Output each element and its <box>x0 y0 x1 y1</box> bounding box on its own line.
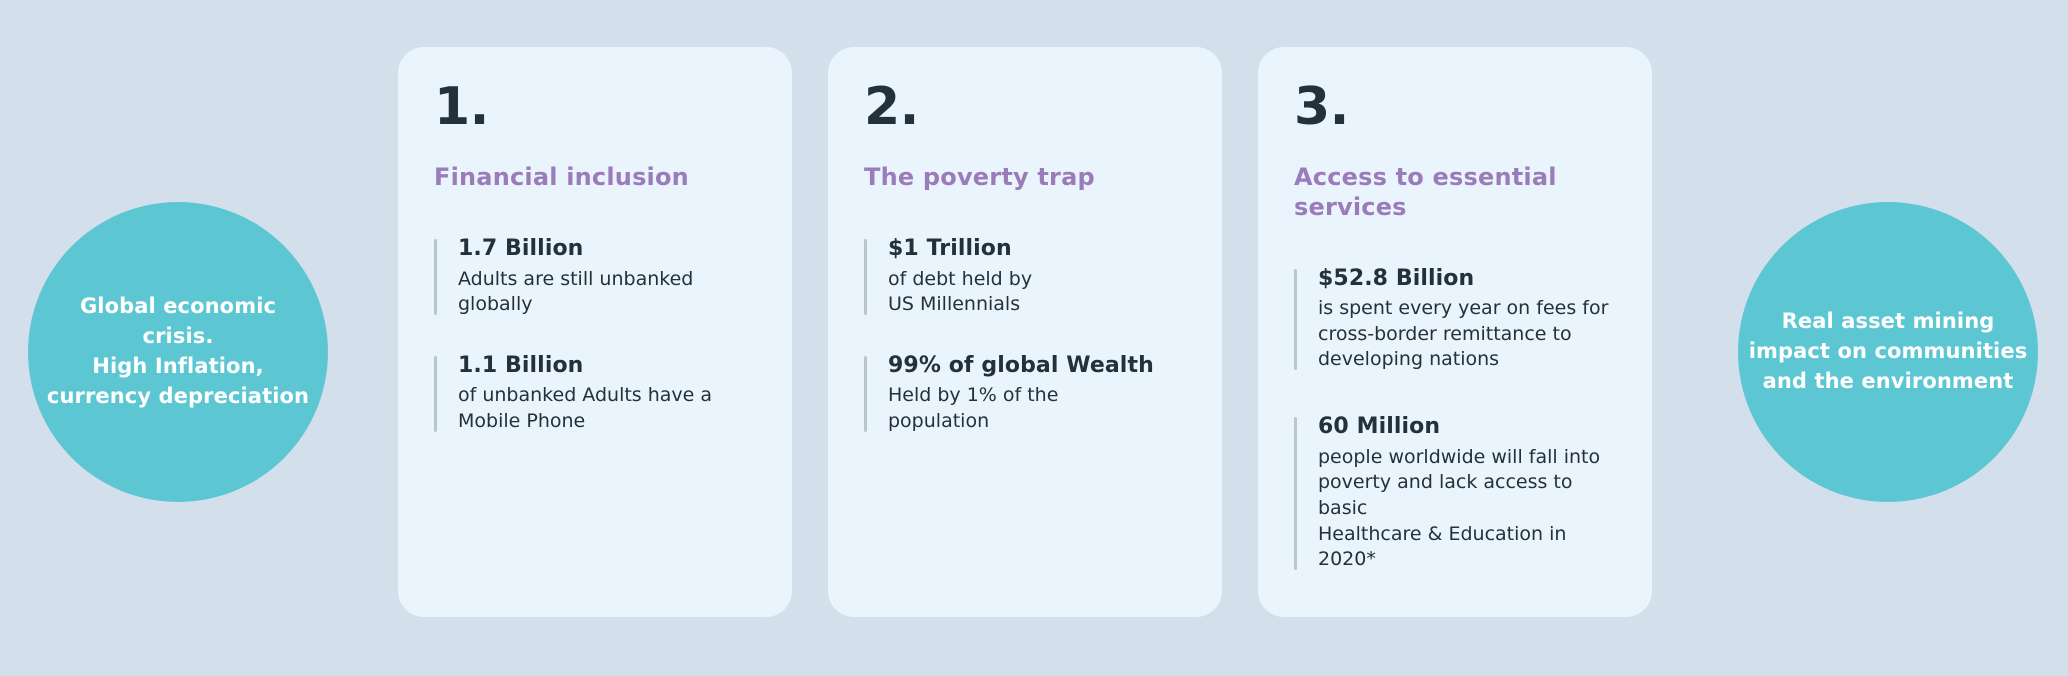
card-poverty-trap: 2. The poverty trap $1 Trillion of debt … <box>828 47 1222 617</box>
stats-list: 1.7 Billion Adults are still unbanked gl… <box>434 235 756 435</box>
card-number: 3. <box>1294 81 1616 133</box>
stat-item: 1.1 Billion of unbanked Adults have a Mo… <box>434 352 756 435</box>
stats-list: $52.8 Billion is spent every year on fee… <box>1294 265 1616 573</box>
stat-description: of unbanked Adults have a Mobile Phone <box>458 383 756 434</box>
stat-item: 60 Million people worldwide will fall in… <box>1294 413 1616 573</box>
stats-list: $1 Trillion of debt held by US Millennia… <box>864 235 1186 435</box>
right-circle-label: Real asset mining impact on communities … <box>1738 307 2038 396</box>
card-title: The poverty trap <box>864 163 1186 193</box>
stat-value: $52.8 Billion <box>1318 265 1616 294</box>
card-title: Financial inclusion <box>434 163 756 193</box>
stat-value: 60 Million <box>1318 413 1616 442</box>
stat-value: 1.1 Billion <box>458 352 756 381</box>
card-access-to-essential-services: 3. Access to essential services $52.8 Bi… <box>1258 47 1652 617</box>
stat-description: of debt held by US Millennials <box>888 267 1186 318</box>
stat-description: Held by 1% of the population <box>888 383 1186 434</box>
card-financial-inclusion: 1. Financial inclusion 1.7 Billion Adult… <box>398 47 792 617</box>
card-number: 1. <box>434 81 756 133</box>
left-context-circle: Global economic crisis. High Inflation, … <box>28 202 328 502</box>
stat-item: $52.8 Billion is spent every year on fee… <box>1294 265 1616 374</box>
right-context-circle: Real asset mining impact on communities … <box>1738 202 2038 502</box>
card-number: 2. <box>864 81 1186 133</box>
stat-description: Adults are still unbanked globally <box>458 267 756 318</box>
stat-value: $1 Trillion <box>888 235 1186 264</box>
stat-item: 1.7 Billion Adults are still unbanked gl… <box>434 235 756 318</box>
stat-description: people worldwide will fall into poverty … <box>1318 445 1616 573</box>
stat-item: $1 Trillion of debt held by US Millennia… <box>864 235 1186 318</box>
left-circle-label: Global economic crisis. High Inflation, … <box>28 292 328 411</box>
cards-row: 1. Financial inclusion 1.7 Billion Adult… <box>398 47 1652 617</box>
infographic-board: Global economic crisis. High Inflation, … <box>0 0 2068 676</box>
stat-value: 1.7 Billion <box>458 235 756 264</box>
stat-item: 99% of global Wealth Held by 1% of the p… <box>864 352 1186 435</box>
stat-value: 99% of global Wealth <box>888 352 1186 381</box>
card-title: Access to essential services <box>1294 163 1616 223</box>
stat-description: is spent every year on fees for cross-bo… <box>1318 296 1616 373</box>
